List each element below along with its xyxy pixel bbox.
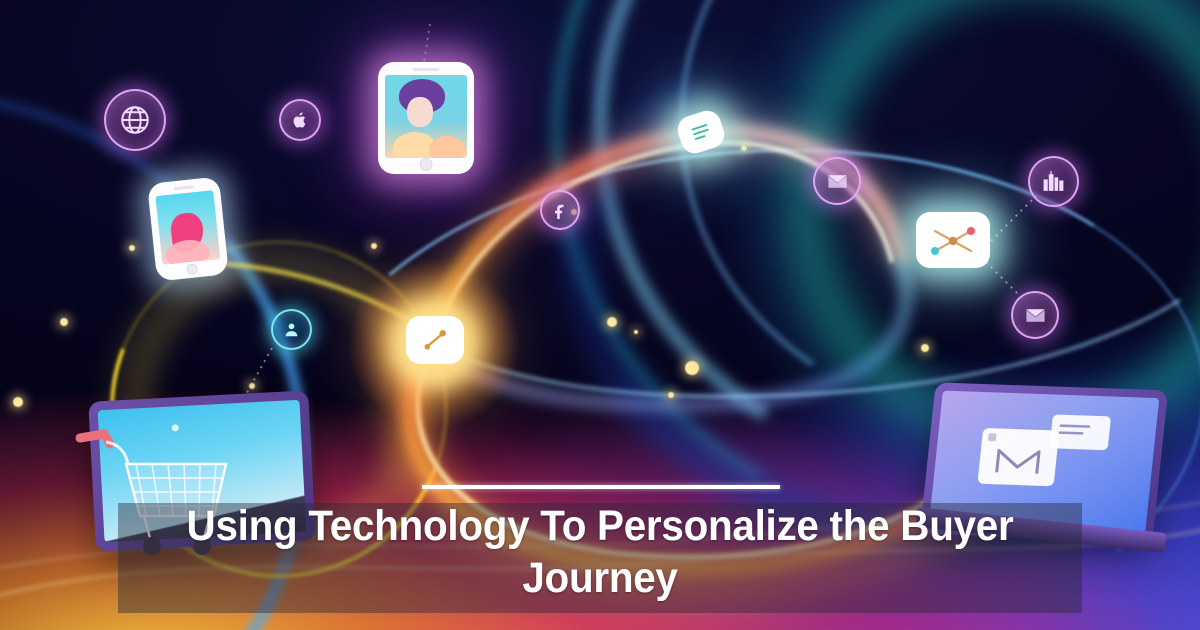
star-dot [921,344,929,352]
banner-graphic: Using Technology To Personalize the Buye… [0,0,1200,630]
phone-screen [385,75,467,158]
phone-home-button [186,263,198,275]
user-icon [271,309,312,350]
page-title: Using Technology To Personalize the Buye… [147,500,1053,604]
title-divider [422,485,780,489]
mail-icon [813,157,861,205]
star-dot [129,245,135,251]
star-dot [13,397,23,407]
phone-speaker [174,185,194,190]
facebook-icon [540,190,580,230]
star-dot [685,361,699,375]
smartphone-app [147,177,229,282]
star-dot [249,383,255,389]
star-dot [668,392,674,398]
share-node-card [406,316,464,364]
phone-speaker [413,68,439,71]
star-dot [371,243,377,249]
star-dot [634,330,638,334]
star-dot [607,317,617,327]
apple-icon [279,99,321,141]
star-dot [60,318,68,326]
phone-screen [155,190,220,265]
smartphone-selfie [378,62,474,174]
globe-icon [104,89,166,151]
star-dot [741,145,747,151]
phone-home-button [420,158,433,171]
mail-icon [1011,291,1059,339]
analytics-card [916,212,990,268]
city-icon [1028,156,1079,207]
